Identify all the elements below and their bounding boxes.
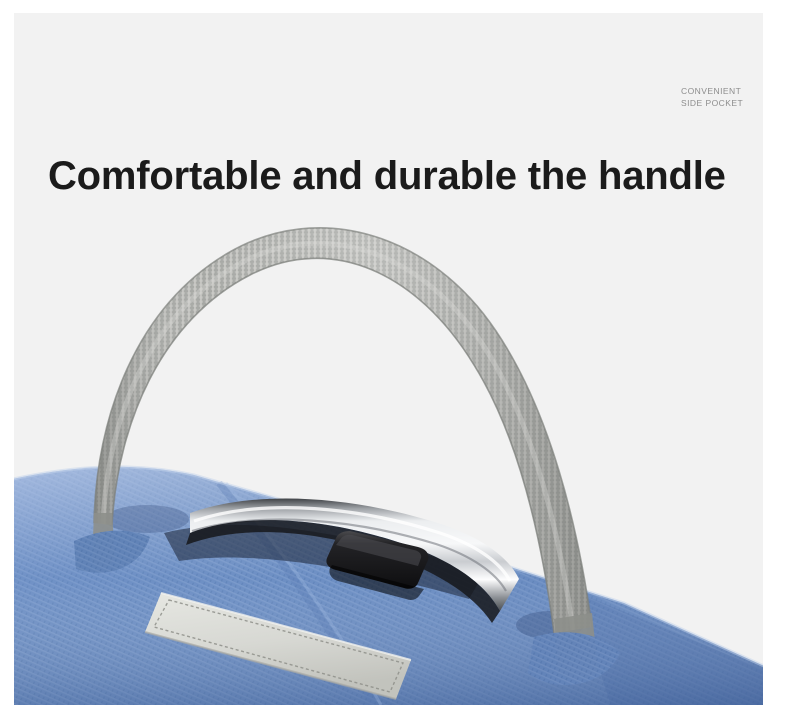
kicker-line-2: SIDE POCKET: [681, 98, 743, 110]
page-title: Comfortable and durable the handle: [48, 151, 726, 201]
product-photo: [14, 13, 763, 705]
kicker-text: CONVENIENT SIDE POCKET: [681, 86, 743, 109]
product-image-panel: CONVENIENT SIDE POCKET Comfortable and d…: [14, 13, 763, 705]
banner-stage: CONVENIENT SIDE POCKET Comfortable and d…: [0, 0, 800, 719]
kicker-line-1: CONVENIENT: [681, 86, 743, 98]
